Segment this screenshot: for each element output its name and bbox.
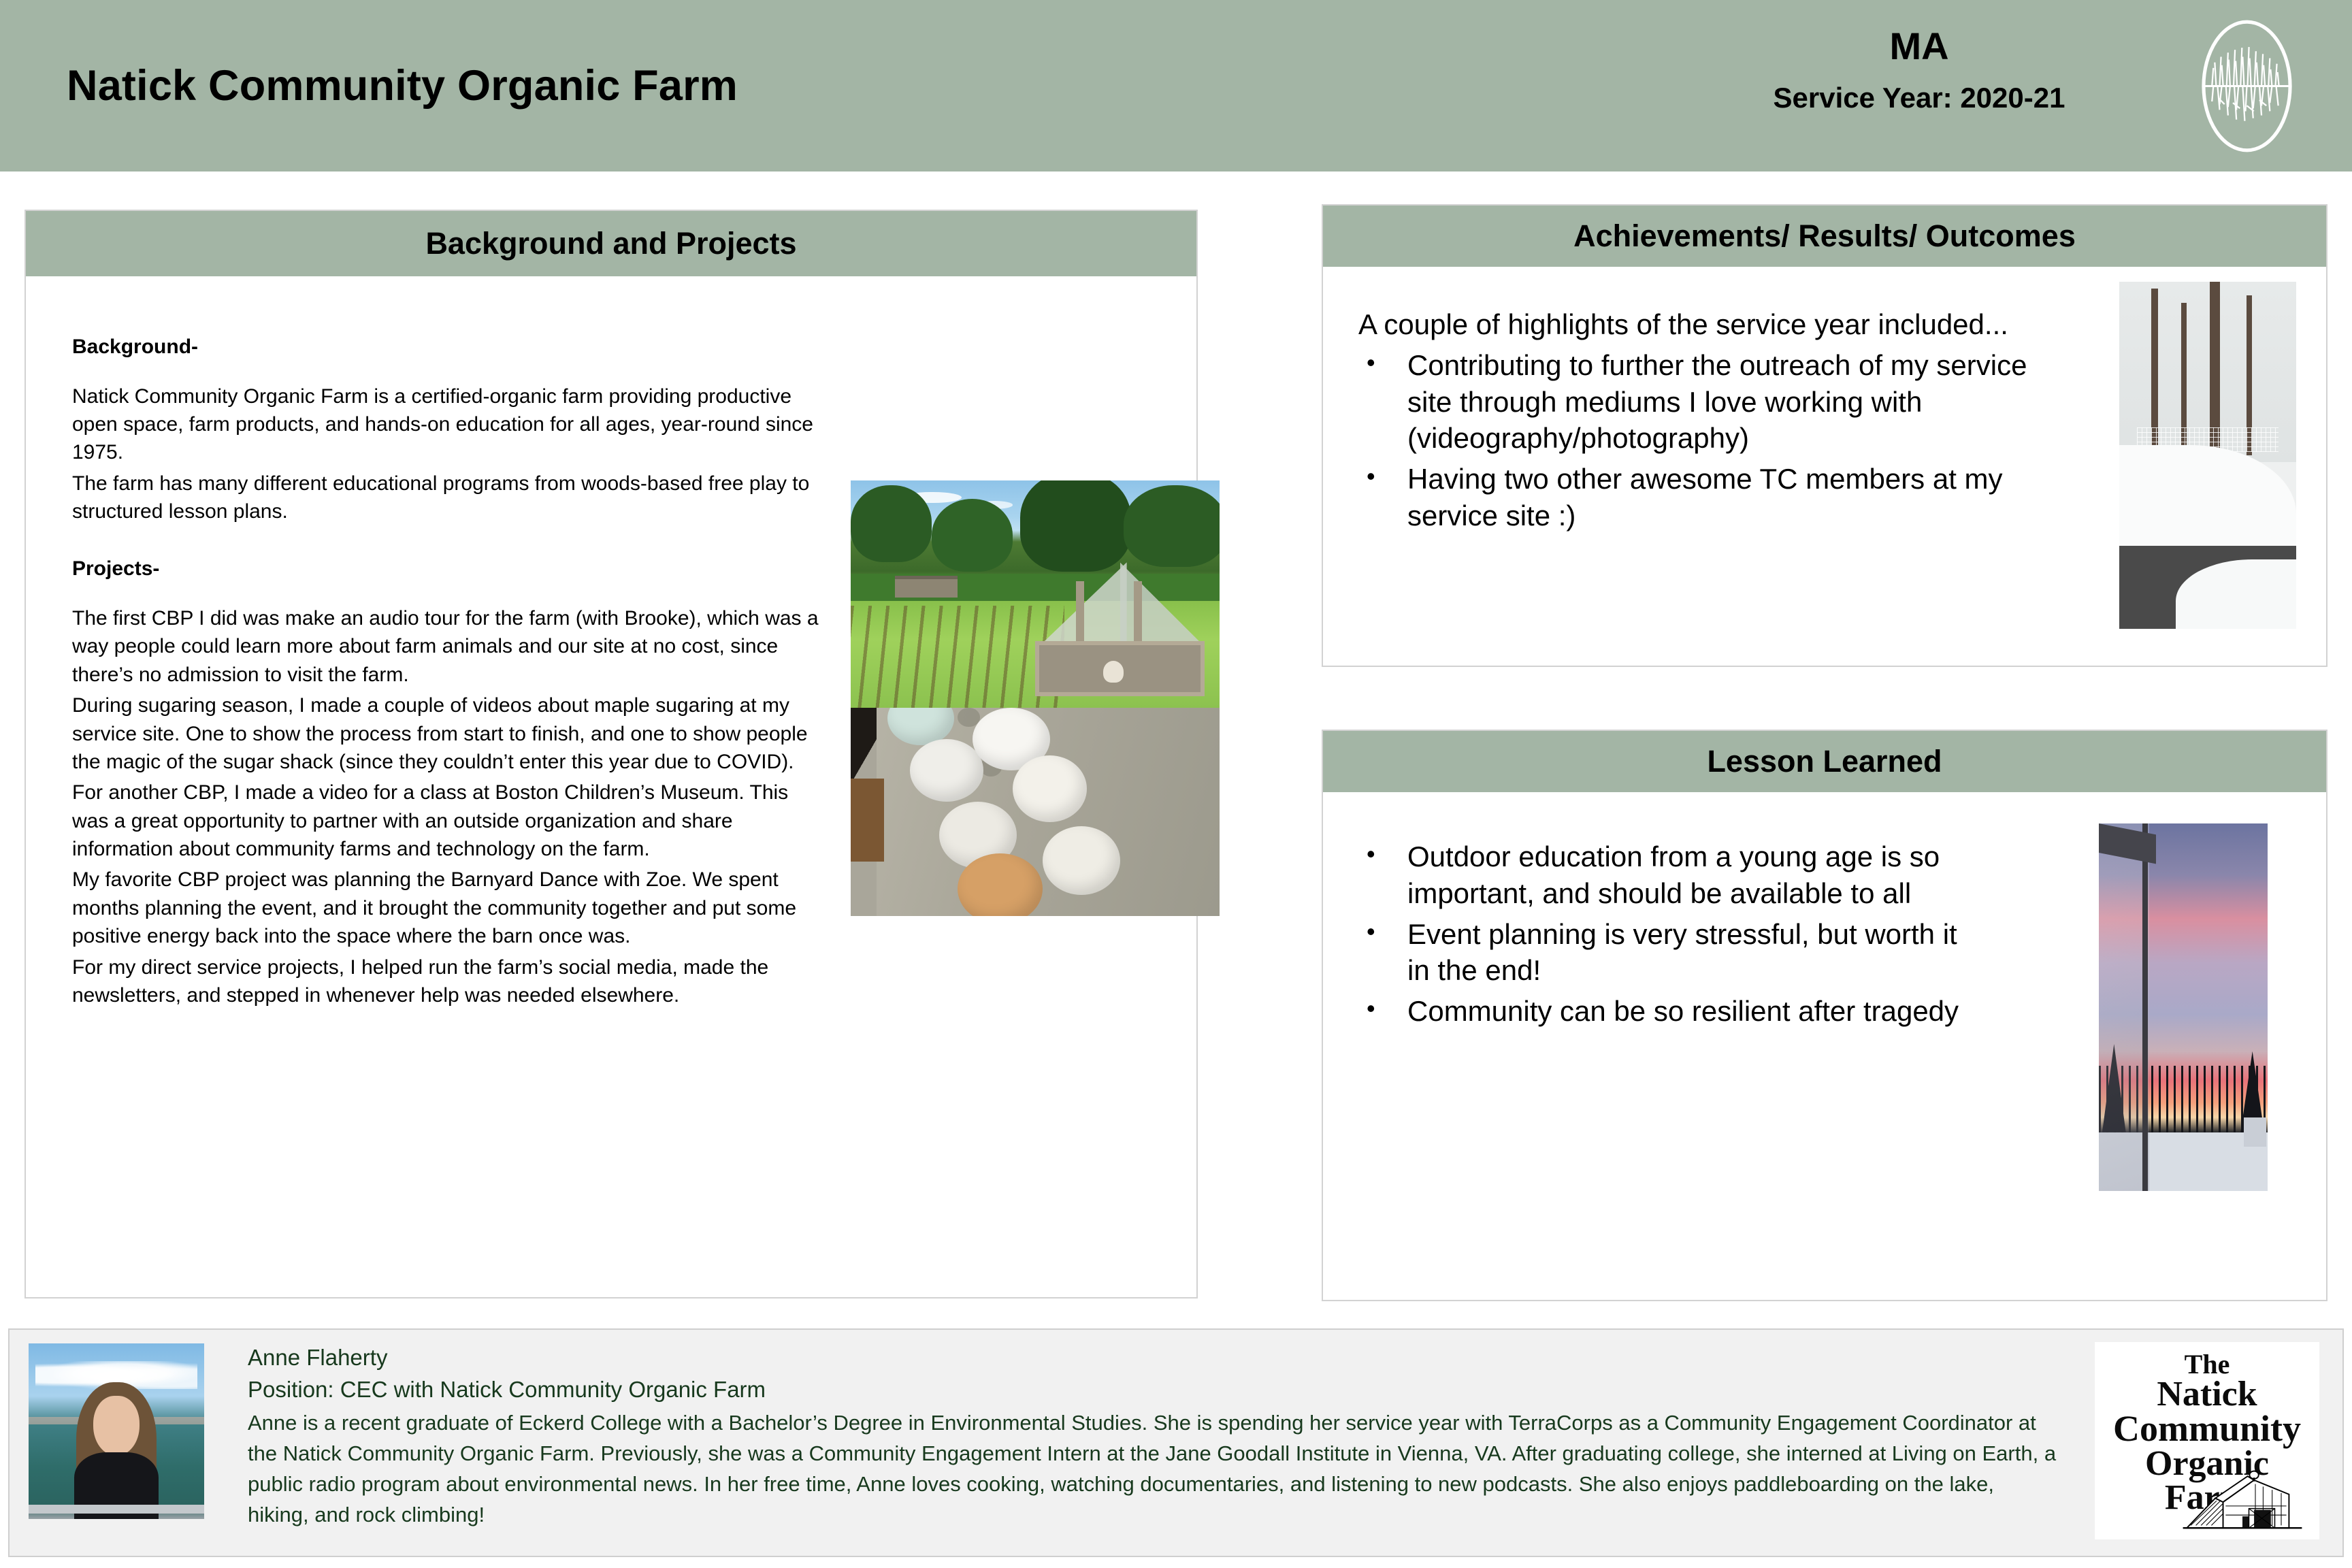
projects-paragraph-3: For another CBP, I made a video for a cl…: [72, 779, 821, 863]
lesson-learned-text: Outdoor education from a young age is so…: [1358, 834, 1971, 1030]
projects-paragraph-2: During sugaring season, I made a couple …: [72, 691, 821, 776]
achievements-bullet-list: Contributing to further the outreach of …: [1358, 347, 2046, 534]
achievements-text: A couple of highlights of the service ye…: [1358, 306, 2046, 534]
list-item: Contributing to further the outreach of …: [1358, 347, 2046, 457]
farm-logo-line-3: Community: [2095, 1411, 2319, 1447]
panel-background-and-projects: Background and Projects Background- Nati…: [24, 210, 1198, 1298]
background-subheading: Background-: [72, 332, 821, 362]
member-name: Anne Flaherty: [248, 1342, 2058, 1374]
eggs-in-carton-photo: [851, 708, 1220, 916]
panel-achievements: Achievements/ Results/ Outcomes A couple…: [1322, 204, 2327, 667]
list-item: Community can be so resilient after trag…: [1358, 993, 1971, 1030]
achievements-lead: A couple of highlights of the service ye…: [1358, 306, 2046, 343]
left-photo-stack: [851, 480, 1220, 916]
spacer: [72, 525, 821, 554]
service-year-label: Service Year: 2020-21: [1661, 82, 2178, 114]
background-projects-text: Background- Natick Community Organic Far…: [72, 332, 821, 1009]
member-bio: Anne is a recent graduate of Eckerd Coll…: [248, 1407, 2058, 1531]
farm-logo-line-2: Natick: [2095, 1377, 2319, 1411]
lesson-bullet-list: Outdoor education from a young age is so…: [1358, 838, 1971, 1030]
list-item: Outdoor education from a young age is so…: [1358, 838, 1971, 912]
barn-illustration: [2178, 1460, 2307, 1535]
natick-farm-logo: The Natick Community Organic Farm: [2095, 1342, 2319, 1539]
panel-heading-background-projects: Background and Projects: [26, 211, 1196, 276]
panel-body-lesson-learned: Outdoor education from a young age is so…: [1323, 792, 2326, 1300]
snowy-creek-photo: [2119, 282, 2296, 629]
farm-logo-line-1: The: [2095, 1352, 2319, 1377]
panel-heading-text: Lesson Learned: [1707, 744, 1942, 779]
background-paragraph-1: Natick Community Organic Farm is a certi…: [72, 382, 821, 467]
footer-text-block: Anne Flaherty Position: CEC with Natick …: [248, 1342, 2058, 1531]
panel-lesson-learned: Lesson Learned Outdoor education from a …: [1322, 730, 2327, 1301]
projects-paragraph-4: My favorite CBP project was planning the…: [72, 866, 821, 950]
member-position: Position: CEC with Natick Community Orga…: [248, 1374, 2058, 1406]
projects-subheading: Projects-: [72, 554, 821, 584]
poster-header: Natick Community Organic Farm MA Service…: [0, 0, 2352, 171]
page-title: Natick Community Organic Farm: [67, 61, 738, 110]
terracorps-circle-logo: [2177, 16, 2317, 156]
farm-field-chicken-coop-photo: [851, 480, 1220, 708]
panel-body-achievements: A couple of highlights of the service ye…: [1323, 267, 2326, 666]
state-abbreviation: MA: [1661, 24, 2178, 68]
footer-bio-bar: Anne Flaherty Position: CEC with Natick …: [8, 1328, 2344, 1557]
list-item: Having two other awesome TC members at m…: [1358, 461, 2046, 534]
panel-heading-lesson-learned: Lesson Learned: [1323, 731, 2326, 792]
list-item: Event planning is very stressful, but wo…: [1358, 916, 1971, 990]
panel-heading-text: Achievements/ Results/ Outcomes: [1573, 218, 2076, 254]
panel-body-background-projects: Background- Natick Community Organic Far…: [26, 276, 1196, 1297]
background-paragraph-2: The farm has many different educational …: [72, 470, 821, 526]
panel-heading-text: Background and Projects: [425, 226, 796, 261]
header-meta: MA Service Year: 2020-21: [1661, 24, 2178, 115]
projects-paragraph-5: For my direct service projects, I helped…: [72, 953, 821, 1010]
panel-heading-achievements: Achievements/ Results/ Outcomes: [1323, 206, 2326, 267]
projects-paragraph-1: The first CBP I did was make an audio to…: [72, 604, 821, 689]
member-portrait-photo: [29, 1343, 204, 1519]
greenhouse-sunset-photo: [2099, 823, 2268, 1191]
